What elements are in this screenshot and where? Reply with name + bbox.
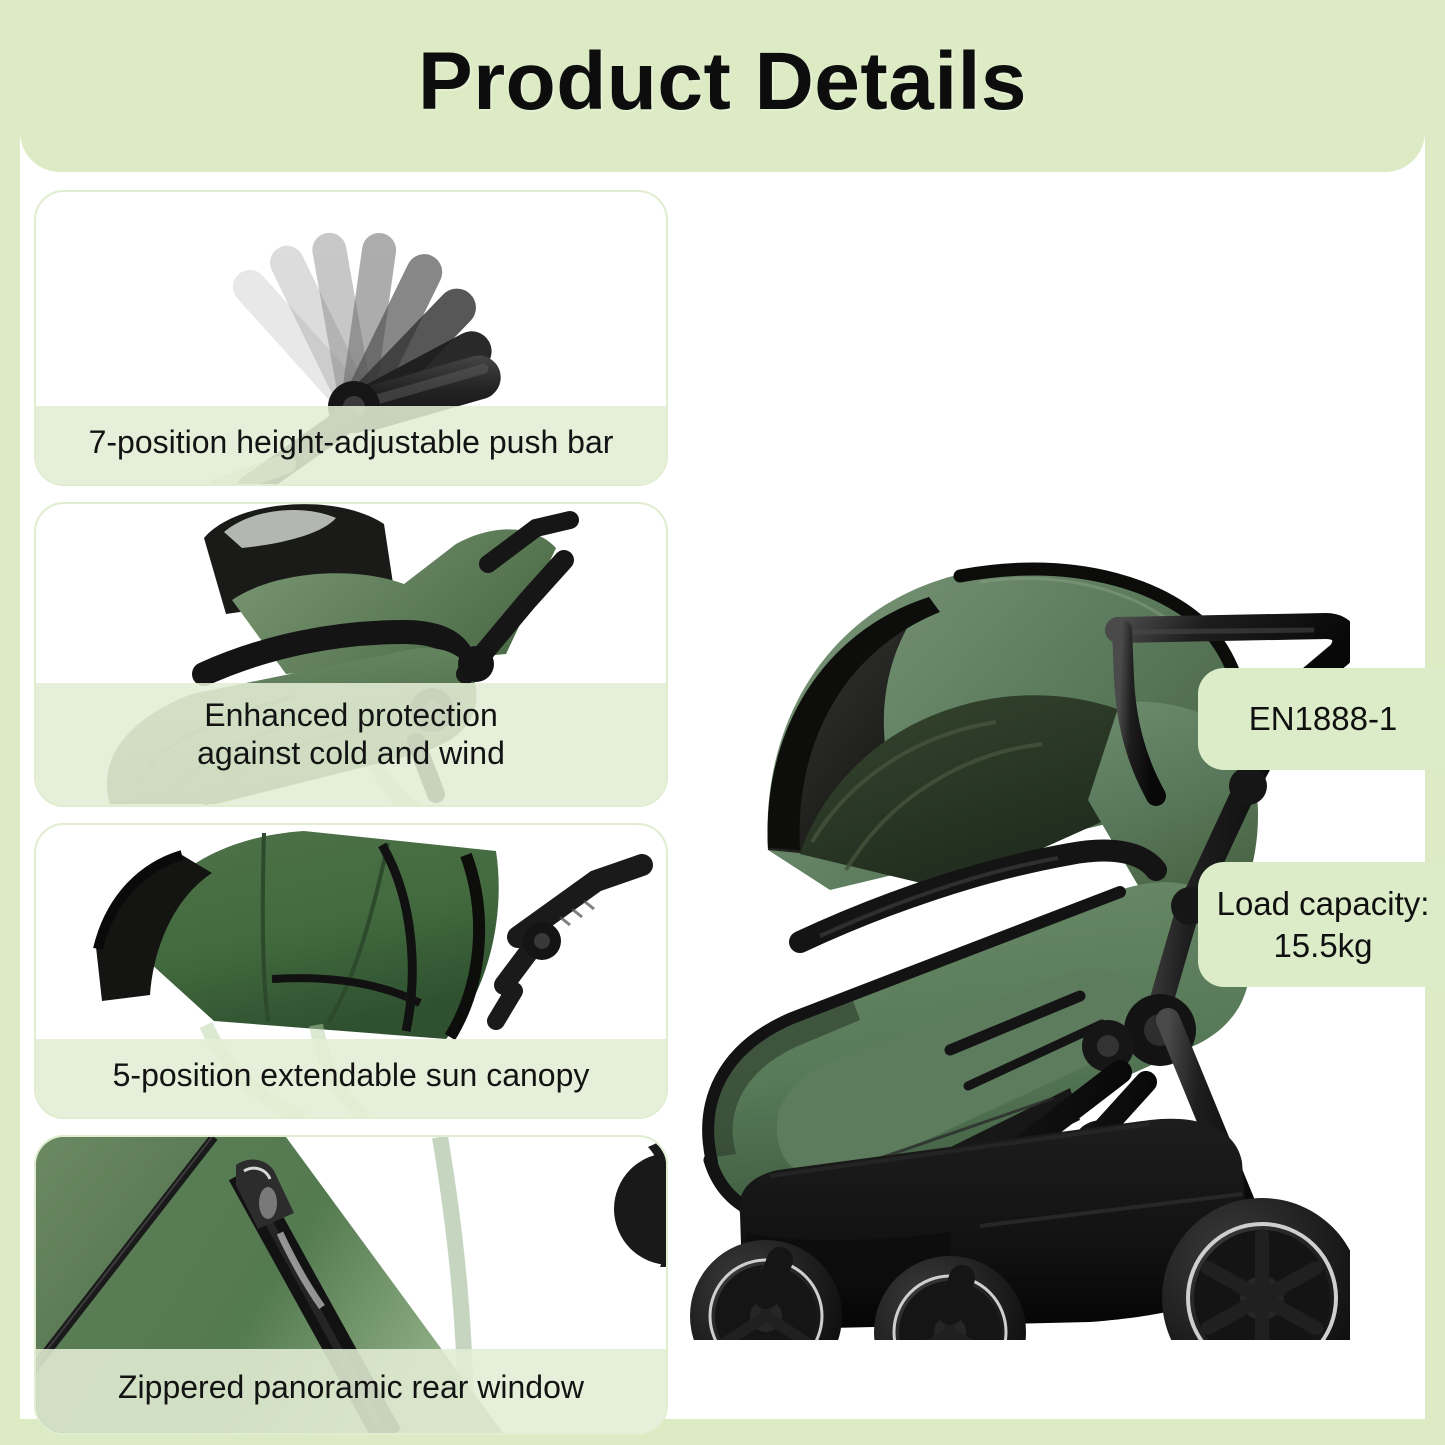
page-title: Product Details	[418, 41, 1027, 123]
badge-load-line-1: Load capacity:	[1217, 885, 1430, 922]
feature-caption-text-line2: against cold and wind	[46, 735, 656, 773]
canopy-lower-strut	[496, 991, 514, 1021]
page-header: Product Details	[20, 0, 1425, 172]
feature-caption-push-bar: 7-position height-adjustable push bar	[36, 406, 666, 484]
handle-joint-mid	[1229, 767, 1267, 805]
feature-card-cold-wind: Enhanced protection against cold and win…	[34, 502, 668, 807]
feature-caption-sun-canopy: 5-position extendable sun canopy	[36, 1039, 666, 1117]
badge-load-capacity-label: Load capacity: 15.5kg	[1217, 883, 1430, 966]
feature-card-list: 7-position height-adjustable push bar	[34, 190, 668, 1445]
feature-card-rear-window: Zippered panoramic rear window	[34, 1135, 668, 1435]
main-product-image	[650, 330, 1350, 1340]
product-details-page: Product Details	[0, 0, 1445, 1445]
badge-certification: EN1888-1	[1198, 668, 1445, 770]
feature-caption-text: 7-position height-adjustable push bar	[89, 424, 614, 460]
feature-caption-cold-wind: Enhanced protection against cold and win…	[36, 683, 666, 805]
feature-caption-rear-window: Zippered panoramic rear window	[36, 1349, 666, 1433]
fork-right	[950, 1278, 962, 1312]
feature-card-push-bar: 7-position height-adjustable push bar	[34, 190, 668, 486]
feature-caption-text: Zippered panoramic rear window	[118, 1369, 584, 1405]
badge-load-capacity: Load capacity: 15.5kg	[1198, 862, 1445, 987]
feature-caption-text-line1: Enhanced protection	[46, 697, 656, 735]
handlebar-grip-highlight	[1130, 630, 1314, 632]
fork-left	[766, 1260, 780, 1296]
stroller-illustration	[650, 330, 1350, 1340]
badge-load-line-2: 15.5kg	[1273, 927, 1372, 964]
feature-card-sun-canopy: 5-position extendable sun canopy	[34, 823, 668, 1119]
badge-certification-label: EN1888-1	[1249, 698, 1398, 739]
frame-left-band	[0, 0, 20, 1445]
muff-frame-joint	[458, 646, 494, 682]
feature-caption-text: 5-position extendable sun canopy	[113, 1057, 590, 1093]
